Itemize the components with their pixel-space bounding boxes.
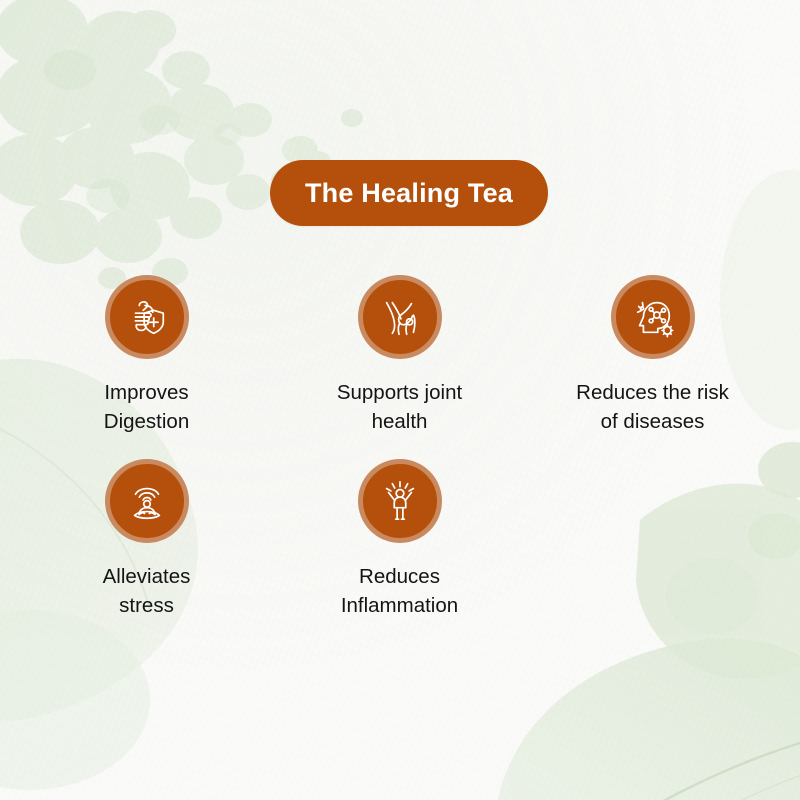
title-pill: The Healing Tea	[270, 160, 548, 226]
benefits-row-1: Improves Digestion Supports joint health	[20, 275, 780, 436]
benefit-label: Reduces Inflammation	[341, 562, 458, 620]
benefit-item-supports-joint-health: Supports joint health	[273, 275, 526, 436]
benefit-label: Alleviates stress	[103, 562, 191, 620]
intestines-shield-icon	[105, 275, 189, 359]
meditating-person-icon	[105, 459, 189, 543]
benefits-grid: Improves Digestion Supports joint health	[20, 275, 780, 620]
benefit-item-improves-digestion: Improves Digestion	[20, 275, 273, 436]
benefit-label: Improves Digestion	[104, 378, 189, 436]
page-title: The Healing Tea	[305, 178, 513, 209]
head-molecule-gear-icon	[611, 275, 695, 359]
benefit-label: Reduces the risk of diseases	[576, 378, 729, 436]
knee-joint-bone-icon	[358, 275, 442, 359]
poster-canvas: The Healing Tea	[0, 0, 800, 800]
benefits-row-2: Alleviates stress	[20, 459, 780, 620]
benefit-item-reduces-inflammation: Reduces Inflammation	[273, 459, 526, 620]
celebrating-person-icon	[358, 459, 442, 543]
benefit-item-alleviates-stress: Alleviates stress	[20, 459, 273, 620]
benefit-slot-empty	[526, 459, 779, 620]
benefit-item-reduces-risk-of-diseases: Reduces the risk of diseases	[526, 275, 779, 436]
benefit-label: Supports joint health	[337, 378, 462, 436]
